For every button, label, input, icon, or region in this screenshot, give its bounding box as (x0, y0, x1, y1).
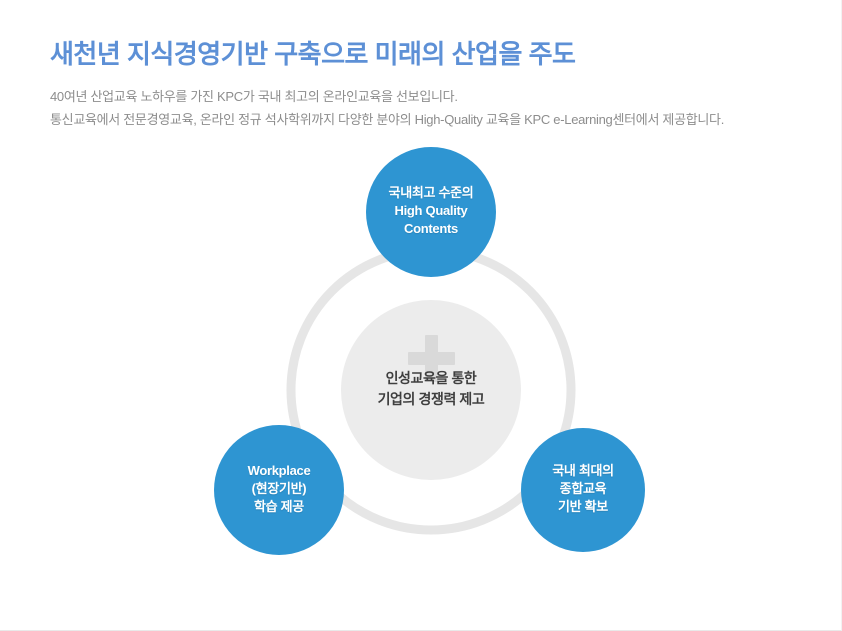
center-circle (341, 300, 521, 480)
diagram-canvas (0, 140, 842, 600)
bubble-top[interactable] (366, 147, 496, 277)
subtitle-block: 40여년 산업교육 노하우를 가진 KPC가 국내 최고의 온라인교육을 선보입… (50, 86, 810, 132)
subtitle-line-2: 통신교육에서 전문경영교육, 온라인 정규 석사학위까지 다양한 분야의 Hig… (50, 109, 810, 132)
vision-diagram: 국내최고 수준의 High Quality Contents 인성교육을 통한 … (0, 140, 842, 600)
bubble-bottom-left[interactable] (214, 425, 344, 555)
header: 새천년 지식경영기반 구축으로 미래의 산업을 주도 40여년 산업교육 노하우… (50, 38, 810, 131)
page-title: 새천년 지식경영기반 구축으로 미래의 산업을 주도 (50, 38, 810, 72)
bubble-bottom-right[interactable] (521, 428, 645, 552)
subtitle-line-1: 40여년 산업교육 노하우를 가진 KPC가 국내 최고의 온라인교육을 선보입… (50, 86, 810, 109)
page-root: 새천년 지식경영기반 구축으로 미래의 산업을 주도 40여년 산업교육 노하우… (0, 0, 842, 631)
